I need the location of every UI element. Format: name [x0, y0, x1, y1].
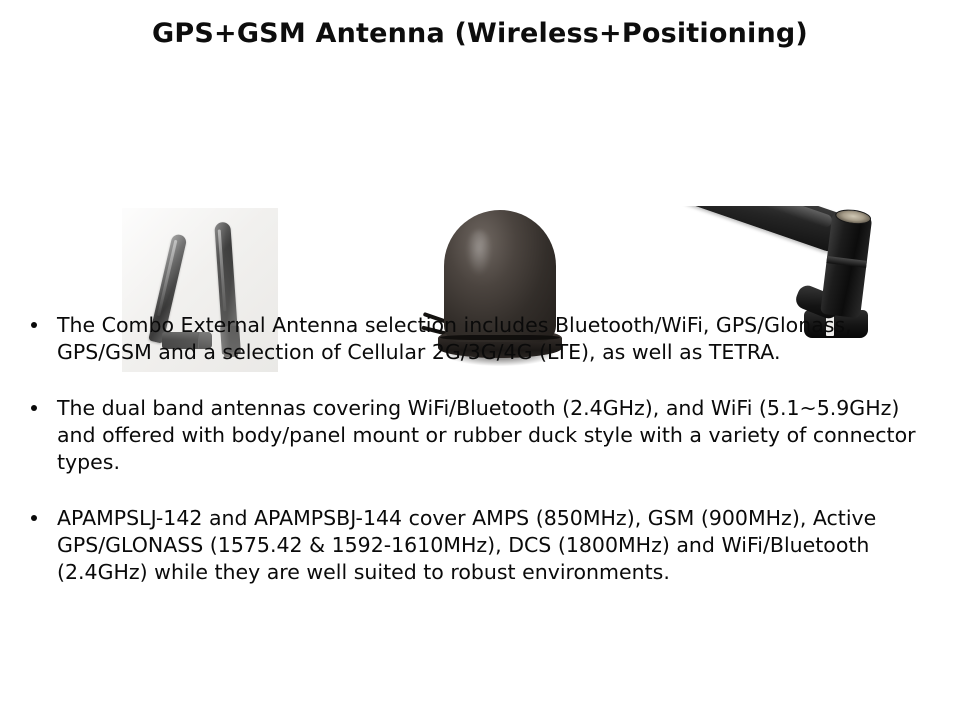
bullet-text: The dual band antennas covering WiFi/Blu… — [57, 396, 916, 474]
bullet-list: The Combo External Antenna selection inc… — [26, 312, 934, 586]
blade-antenna-connector-ring — [826, 256, 867, 268]
list-item: The Combo External Antenna selection inc… — [26, 312, 934, 366]
bullet-icon — [31, 515, 37, 521]
bullet-text: The Combo External Antenna selection inc… — [57, 313, 852, 364]
list-item: APAMPSLJ-142 and APAMPSBJ-144 cover AMPS… — [26, 505, 934, 586]
list-item: The dual band antennas covering WiFi/Blu… — [26, 395, 934, 476]
bullet-icon — [31, 322, 37, 328]
slide-title: GPS+GSM Antenna (Wireless+Positioning) — [0, 18, 960, 49]
product-image-row — [0, 100, 960, 290]
blade-antenna-body — [681, 206, 851, 255]
bullet-icon — [31, 405, 37, 411]
dome-antenna-highlight — [466, 230, 492, 276]
bullet-text: APAMPSLJ-142 and APAMPSBJ-144 cover AMPS… — [57, 506, 876, 584]
blade-antenna-connector-contact — [834, 208, 871, 226]
